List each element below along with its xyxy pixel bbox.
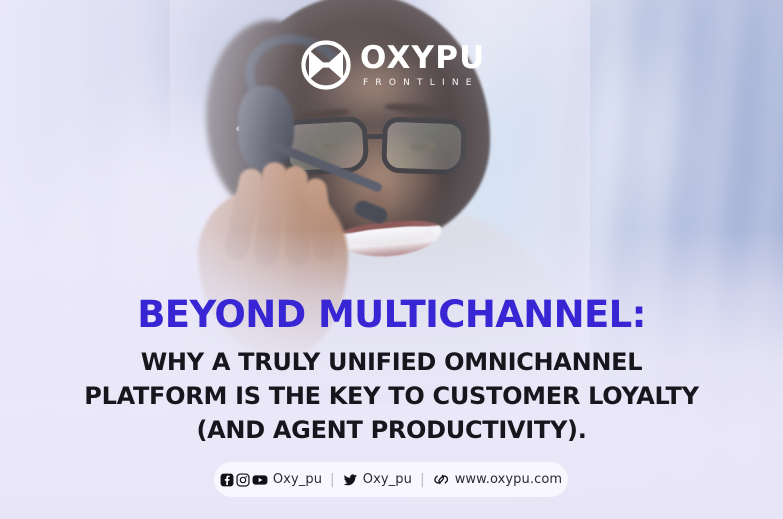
eyeglasses-icon [278, 118, 488, 180]
link-icon[interactable] [433, 472, 450, 487]
separator: | [420, 472, 425, 488]
headline-block: BEYOND MULTICHANNEL: WHY A TRULY UNIFIED… [0, 296, 783, 447]
social-handle: Oxy_pu [273, 472, 322, 487]
website-url: www.oxypu.com [455, 472, 562, 487]
subheadline-line: WHY A TRULY UNIFIED OMNICHANNEL [0, 345, 783, 379]
facebook-icon[interactable] [220, 473, 234, 487]
headset-earcup-icon [238, 86, 294, 170]
agent-finger [282, 166, 310, 267]
brand-name: OXYPU [360, 43, 486, 74]
brand-wordmark: OXYPU FRONTLINE [360, 43, 486, 88]
promotional-banner: OXYPU FRONTLINE BEYOND MULTICHANNEL: WHY… [0, 0, 783, 519]
eyeglass-lens [381, 117, 467, 176]
website-group[interactable]: www.oxypu.com [433, 472, 562, 487]
brand-tagline: FRONTLINE [360, 79, 486, 88]
social-group-primary[interactable]: Oxy_pu [220, 472, 322, 487]
social-icon-set [220, 473, 268, 487]
subheadline-line: PLATFORM IS THE KEY TO CUSTOMER LOYALTY [0, 379, 783, 413]
circle-x-emblem-icon [301, 40, 351, 90]
subheadline: WHY A TRULY UNIFIED OMNICHANNEL PLATFORM… [0, 345, 783, 447]
instagram-icon[interactable] [236, 473, 250, 487]
social-handle: Oxy_pu [363, 472, 412, 487]
subheadline-line: (AND AGENT PRODUCTIVITY). [0, 413, 783, 447]
brand-logo[interactable]: OXYPU FRONTLINE [301, 40, 486, 90]
twitter-icon[interactable] [343, 473, 358, 487]
eyeglass-bridge [366, 134, 386, 139]
page-title: BEYOND MULTICHANNEL: [0, 296, 783, 335]
social-group-twitter[interactable]: Oxy_pu [343, 472, 412, 487]
social-footer-bar: Oxy_pu | Oxy_pu | www.oxypu.com [214, 462, 568, 497]
separator: | [330, 472, 335, 488]
youtube-icon[interactable] [252, 473, 268, 487]
